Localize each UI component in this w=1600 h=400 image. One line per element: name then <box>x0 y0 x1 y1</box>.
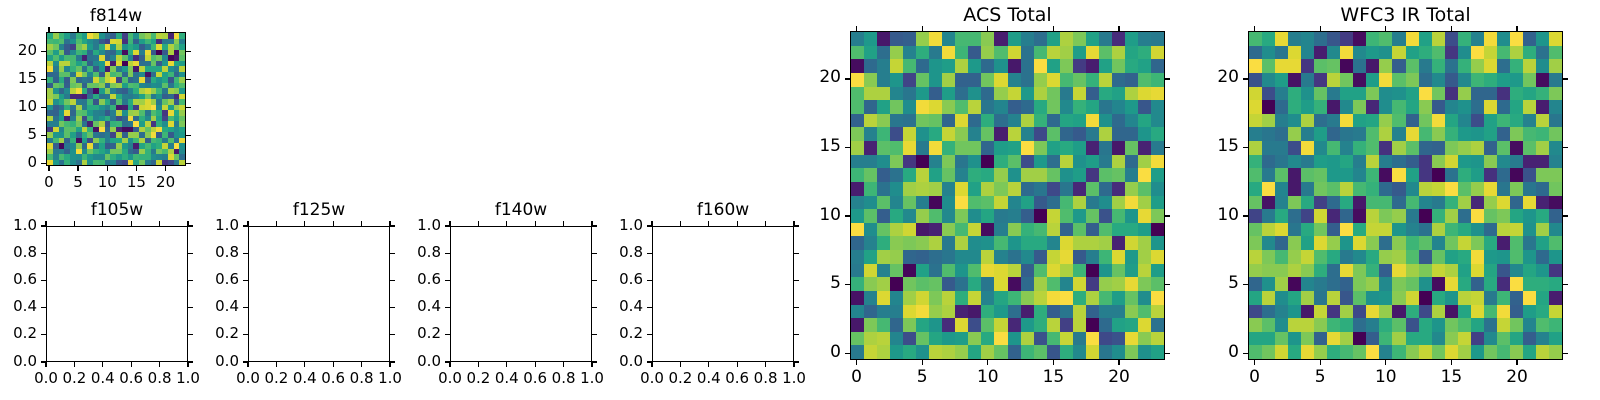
y-tick-mark-right <box>794 253 799 254</box>
y-tick-label: 0.4 <box>169 299 239 314</box>
x-tick-mark <box>1118 360 1119 365</box>
y-tick-label: 1.0 <box>371 218 441 233</box>
y-tick-label: 5 <box>0 127 37 142</box>
heatmap-image <box>851 32 1164 359</box>
y-tick-mark <box>243 334 248 335</box>
y-tick-label: 0.4 <box>573 299 643 314</box>
x-tick-label: 20 <box>1477 369 1557 386</box>
x-tick-mark <box>77 166 78 171</box>
y-tick-mark <box>243 307 248 308</box>
axes-f125w <box>248 226 390 362</box>
x-tick-mark <box>1053 360 1054 365</box>
x-tick-mark <box>1254 360 1255 365</box>
panel-title-acs-total: ACS Total <box>850 6 1165 25</box>
y-tick-mark-right <box>186 135 191 136</box>
y-tick-mark-right <box>186 163 191 164</box>
y-tick-mark <box>41 163 46 164</box>
y-tick-mark <box>1243 78 1248 79</box>
y-tick-mark <box>445 280 450 281</box>
x-tick-mark-top <box>45 221 46 226</box>
x-tick-mark <box>45 362 46 367</box>
x-tick-mark-top <box>1254 26 1255 31</box>
y-tick-label: 0 <box>0 155 37 170</box>
y-tick-label: 20 <box>0 43 37 58</box>
y-tick-label: 10 <box>0 99 37 114</box>
y-tick-mark <box>243 253 248 254</box>
y-tick-label: 1.0 <box>573 218 643 233</box>
x-tick-mark-top <box>48 27 49 32</box>
y-tick-mark <box>647 253 652 254</box>
x-tick-mark <box>535 362 536 367</box>
y-tick-label: 0.0 <box>573 354 643 369</box>
y-tick-label: 5 <box>1169 275 1239 292</box>
y-tick-mark-right <box>794 225 799 226</box>
y-tick-mark <box>845 284 850 285</box>
y-tick-mark-right <box>794 280 799 281</box>
y-tick-mark <box>1243 147 1248 148</box>
x-tick-mark <box>48 166 49 171</box>
x-tick-mark-top <box>1118 26 1119 31</box>
x-tick-mark <box>680 362 681 367</box>
y-tick-mark-right <box>186 51 191 52</box>
x-tick-mark-top <box>506 221 507 226</box>
y-tick-mark <box>1243 284 1248 285</box>
x-tick-mark <box>922 360 923 365</box>
axes-f814w <box>46 32 186 166</box>
x-tick-mark-top <box>74 221 75 226</box>
panel-title-f814w: f814w <box>46 8 186 25</box>
x-tick-mark-top <box>333 221 334 226</box>
y-tick-label: 0.6 <box>573 272 643 287</box>
x-tick-mark <box>478 362 479 367</box>
y-tick-mark-right <box>1563 78 1568 79</box>
x-tick-mark-top <box>708 221 709 226</box>
x-tick-mark <box>1516 360 1517 365</box>
x-tick-mark <box>165 166 166 171</box>
x-tick-mark <box>74 362 75 367</box>
y-tick-mark <box>845 78 850 79</box>
x-tick-mark-top <box>478 221 479 226</box>
x-tick-mark <box>708 362 709 367</box>
x-tick-mark <box>361 362 362 367</box>
panel-title-f140w: f140w <box>450 202 592 219</box>
x-tick-mark <box>136 166 137 171</box>
y-tick-label: 0.6 <box>0 272 37 287</box>
x-tick-mark <box>449 362 450 367</box>
y-tick-label: 0.2 <box>169 326 239 341</box>
y-tick-label: 0.0 <box>371 354 441 369</box>
matplotlib-figure: f814w f105w f125w f140w f160w ACS Total … <box>0 0 1600 400</box>
x-tick-label: 20 <box>126 175 206 190</box>
x-tick-mark-top <box>77 27 78 32</box>
x-tick-mark <box>247 362 248 367</box>
y-tick-mark <box>41 135 46 136</box>
y-tick-label: 0.8 <box>573 245 643 260</box>
x-tick-mark <box>1320 360 1321 365</box>
x-tick-mark-top <box>304 221 305 226</box>
y-tick-mark-right <box>1563 147 1568 148</box>
y-tick-label: 15 <box>0 71 37 86</box>
y-tick-mark-right <box>1563 215 1568 216</box>
y-tick-mark <box>41 334 46 335</box>
x-tick-mark <box>304 362 305 367</box>
x-tick-mark-top <box>102 221 103 226</box>
x-tick-mark-top <box>535 221 536 226</box>
x-tick-mark <box>506 362 507 367</box>
y-tick-mark-right <box>186 107 191 108</box>
y-tick-label: 0.8 <box>371 245 441 260</box>
x-tick-mark-top <box>651 221 652 226</box>
x-tick-mark <box>1385 360 1386 365</box>
y-tick-mark <box>445 307 450 308</box>
x-tick-mark-top <box>361 221 362 226</box>
x-tick-mark-top <box>856 26 857 31</box>
panel-title-wfc3-ir-total: WFC3 IR Total <box>1248 6 1563 25</box>
x-tick-mark-top <box>987 26 988 31</box>
y-tick-mark <box>445 334 450 335</box>
x-tick-mark-top <box>247 221 248 226</box>
x-tick-mark <box>987 360 988 365</box>
panel-title-f105w: f105w <box>46 202 188 219</box>
y-tick-mark <box>647 307 652 308</box>
x-tick-mark-top <box>107 27 108 32</box>
y-tick-mark <box>41 107 46 108</box>
x-tick-mark-top <box>1516 26 1517 31</box>
y-tick-mark <box>845 215 850 216</box>
x-tick-mark <box>563 362 564 367</box>
x-tick-mark-top <box>165 27 166 32</box>
y-tick-label: 0.8 <box>169 245 239 260</box>
y-tick-label: 0.2 <box>0 326 37 341</box>
y-tick-label: 0 <box>771 344 841 361</box>
y-tick-mark <box>1243 215 1248 216</box>
axes-f160w <box>652 226 794 362</box>
y-tick-label: 0.0 <box>169 354 239 369</box>
y-tick-mark <box>41 51 46 52</box>
y-tick-mark-right <box>794 307 799 308</box>
y-tick-mark-right <box>794 361 799 362</box>
x-tick-mark-top <box>737 221 738 226</box>
x-tick-mark <box>276 362 277 367</box>
y-tick-label: 0.8 <box>0 245 37 260</box>
y-tick-mark <box>647 280 652 281</box>
y-tick-label: 0.0 <box>0 354 37 369</box>
y-tick-label: 0.2 <box>573 326 643 341</box>
x-tick-mark <box>102 362 103 367</box>
y-tick-label: 10 <box>1169 207 1239 224</box>
y-tick-mark-right <box>1563 284 1568 285</box>
x-tick-mark-top <box>449 221 450 226</box>
x-tick-label: 20 <box>1079 369 1159 386</box>
heatmap-image <box>1249 32 1562 359</box>
y-tick-label: 0.4 <box>371 299 441 314</box>
y-tick-mark-right <box>794 334 799 335</box>
axes-f105w <box>46 226 188 362</box>
x-tick-mark <box>131 362 132 367</box>
axes-wfc3-ir-total <box>1248 31 1563 360</box>
y-tick-label: 20 <box>1169 69 1239 86</box>
heatmap-image <box>47 33 185 165</box>
x-tick-mark-top <box>1320 26 1321 31</box>
y-tick-mark <box>41 280 46 281</box>
x-tick-mark <box>333 362 334 367</box>
x-tick-label: 1.0 <box>754 371 834 386</box>
axes-f140w <box>450 226 592 362</box>
y-tick-label: 0.6 <box>371 272 441 287</box>
y-tick-label: 0.4 <box>0 299 37 314</box>
y-tick-mark <box>41 253 46 254</box>
x-tick-mark-top <box>276 221 277 226</box>
y-tick-mark <box>1243 353 1248 354</box>
y-tick-label: 0.2 <box>371 326 441 341</box>
x-tick-mark <box>651 362 652 367</box>
y-tick-mark <box>41 79 46 80</box>
x-tick-mark <box>793 362 794 367</box>
y-tick-mark <box>445 253 450 254</box>
y-tick-mark-right <box>186 79 191 80</box>
y-tick-label: 10 <box>771 207 841 224</box>
y-tick-mark <box>845 147 850 148</box>
x-tick-mark-top <box>131 221 132 226</box>
x-tick-mark-top <box>793 221 794 226</box>
y-tick-label: 15 <box>1169 138 1239 155</box>
x-tick-mark-top <box>680 221 681 226</box>
x-tick-mark-top <box>765 221 766 226</box>
y-tick-label: 1.0 <box>0 218 37 233</box>
x-tick-mark <box>737 362 738 367</box>
y-tick-mark <box>845 353 850 354</box>
x-tick-mark-top <box>1451 26 1452 31</box>
y-tick-mark <box>647 334 652 335</box>
axes-acs-total <box>850 31 1165 360</box>
y-tick-label: 0.6 <box>169 272 239 287</box>
y-tick-label: 0 <box>1169 344 1239 361</box>
y-tick-label: 1.0 <box>169 218 239 233</box>
x-tick-mark <box>765 362 766 367</box>
x-tick-mark <box>856 360 857 365</box>
y-tick-mark <box>41 307 46 308</box>
x-tick-mark <box>107 166 108 171</box>
x-tick-mark <box>1451 360 1452 365</box>
y-tick-label: 20 <box>771 69 841 86</box>
x-tick-mark <box>159 362 160 367</box>
x-tick-mark-top <box>1385 26 1386 31</box>
y-tick-label: 5 <box>771 275 841 292</box>
x-tick-mark-top <box>922 26 923 31</box>
y-tick-label: 15 <box>771 138 841 155</box>
x-tick-mark-top <box>136 27 137 32</box>
y-tick-mark <box>243 280 248 281</box>
x-tick-mark-top <box>159 221 160 226</box>
y-tick-mark-right <box>1563 353 1568 354</box>
x-tick-mark-top <box>1053 26 1054 31</box>
x-tick-mark-top <box>563 221 564 226</box>
panel-title-f125w: f125w <box>248 202 390 219</box>
